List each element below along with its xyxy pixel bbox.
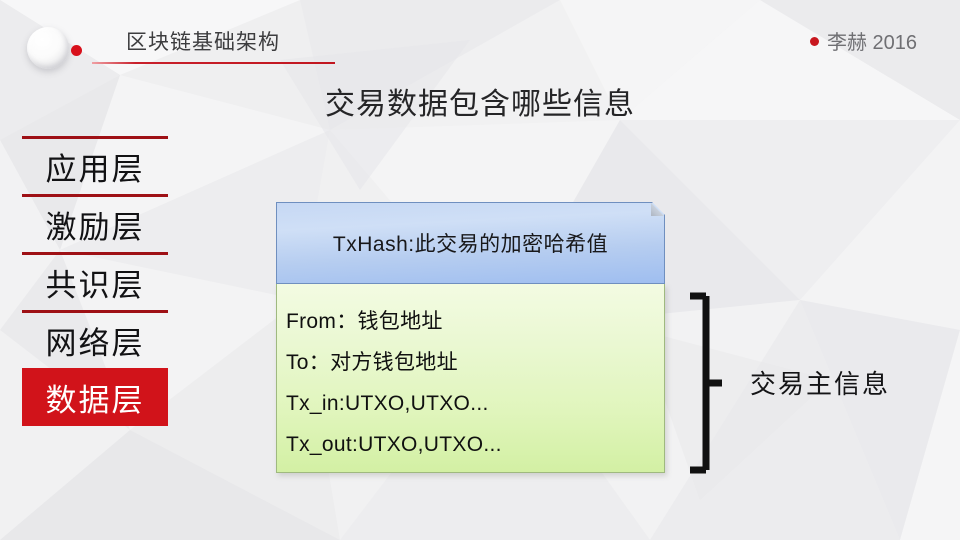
annotation-caption: 交易主信息 bbox=[750, 364, 890, 401]
sidebar-item-data[interactable]: 数据层 bbox=[22, 368, 168, 426]
header-underline bbox=[92, 62, 335, 64]
transaction-card-body: From：钱包地址 To：对方钱包地址 Tx_in:UTXO,UTXO... T… bbox=[276, 284, 665, 473]
slide-canvas: 区块链基础架构 李赫 2016 交易数据包含哪些信息 应用层 激励层 共识层 网… bbox=[0, 0, 960, 540]
breadcrumb: 区块链基础架构 bbox=[126, 26, 280, 56]
sphere-icon bbox=[27, 27, 69, 69]
page-title: 交易数据包含哪些信息 bbox=[0, 79, 960, 123]
txhash-label: TxHash:此交易的加密哈希值 bbox=[333, 228, 608, 258]
tx-field-txout: Tx_out:UTXO,UTXO... bbox=[286, 424, 664, 465]
transaction-card-header: TxHash:此交易的加密哈希值 bbox=[276, 202, 665, 284]
tx-field-from: From：钱包地址 bbox=[286, 301, 664, 342]
tx-field-to: To：对方钱包地址 bbox=[286, 342, 664, 383]
tx-field-txin: Tx_in:UTXO,UTXO... bbox=[286, 383, 664, 424]
sidebar-item-incentive[interactable]: 激励层 bbox=[22, 197, 168, 252]
folded-corner-icon bbox=[651, 203, 664, 216]
layer-stack: 应用层 激励层 共识层 网络层 数据层 bbox=[22, 136, 168, 426]
author-label: 李赫 2016 bbox=[827, 26, 917, 55]
transaction-card: TxHash:此交易的加密哈希值 From：钱包地址 To：对方钱包地址 Tx_… bbox=[276, 202, 665, 473]
sidebar-item-consensus[interactable]: 共识层 bbox=[22, 255, 168, 310]
red-dot-icon bbox=[71, 45, 82, 56]
sidebar-item-network[interactable]: 网络层 bbox=[22, 313, 168, 368]
right-brace-icon bbox=[686, 292, 732, 474]
sidebar-item-application[interactable]: 应用层 bbox=[22, 139, 168, 194]
author-bullet-icon bbox=[810, 37, 819, 46]
